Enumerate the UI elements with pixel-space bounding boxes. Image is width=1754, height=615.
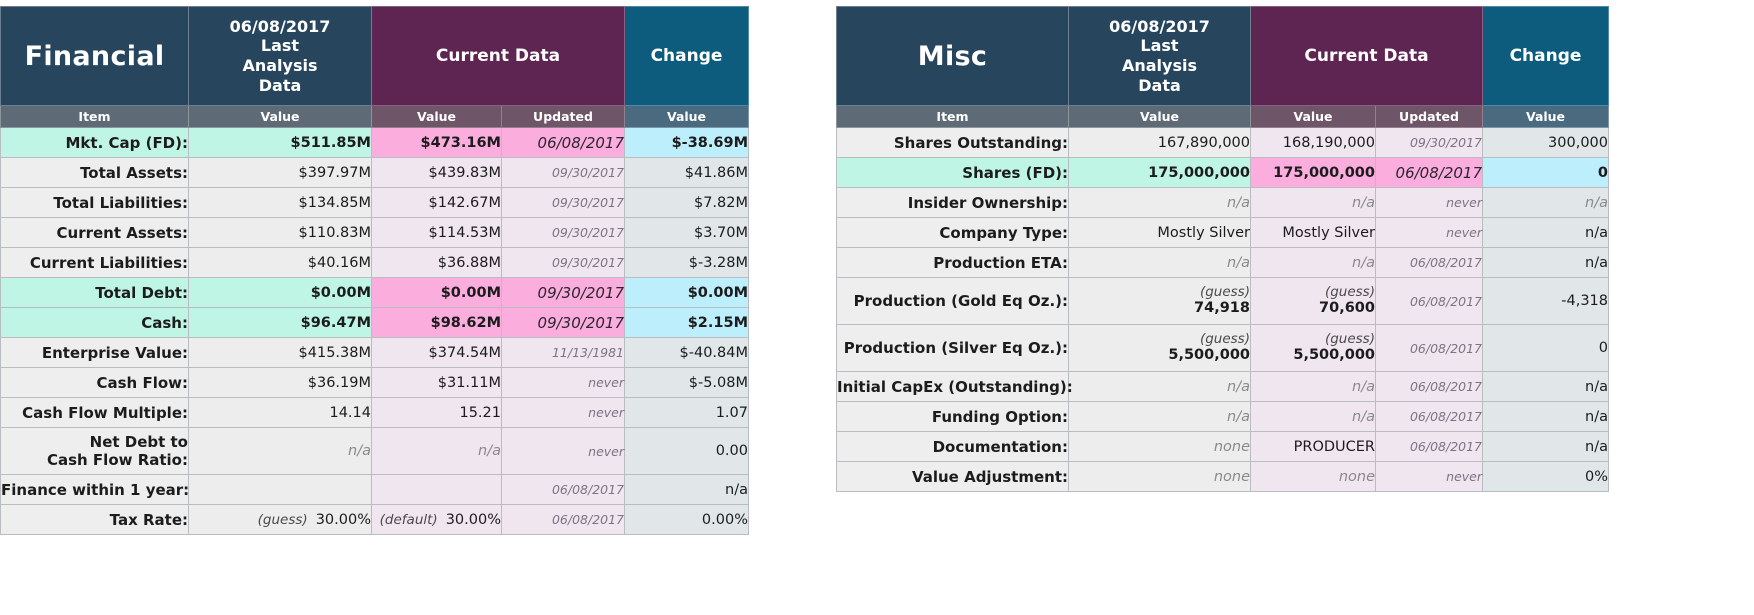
last-analysis-line-1: 06/08/2017 (1069, 17, 1250, 37)
value-text: $96.47M (301, 315, 371, 331)
misc-last-analysis-header: 06/08/2017 Last Analysis Data (1069, 7, 1251, 106)
misc-current-value: (guess)5,500,000 (1251, 325, 1376, 372)
financial-row-label: Current Liabilities: (1, 248, 189, 278)
financial-updated: never (502, 428, 625, 475)
financial-last-analysis-value: n/a (189, 428, 372, 475)
value-number: 70,600 (1251, 300, 1375, 318)
financial-row-label: Finance within 1 year: (1, 475, 189, 505)
financial-current-value: $36.88M (372, 248, 502, 278)
misc-subheader-current-value: Value (1251, 106, 1376, 128)
misc-thead: Misc 06/08/2017 Last Analysis Data Curre… (837, 7, 1609, 128)
value-text: $142.67M (429, 195, 501, 211)
misc-subheader-change: Value (1483, 106, 1609, 128)
misc-subheader-value: Value (1069, 106, 1251, 128)
financial-current-data-header: Current Data (372, 7, 625, 106)
value-text: Mostly Silver (1282, 225, 1375, 241)
misc-current-data-header: Current Data (1251, 7, 1483, 106)
financial-row-label: Mkt. Cap (FD): (1, 128, 189, 158)
misc-row-label: Funding Option: (837, 402, 1069, 432)
financial-title: Financial (1, 7, 189, 106)
value-text: n/a (1227, 379, 1250, 395)
financial-title-row: Financial 06/08/2017 Last Analysis Data … (1, 7, 749, 106)
value-text: n/a (348, 443, 371, 459)
financial-table: Financial 06/08/2017 Last Analysis Data … (0, 6, 749, 535)
value-text: $98.62M (431, 315, 501, 331)
value-text: $110.83M (299, 225, 371, 241)
value-text: n/a (1585, 195, 1608, 211)
financial-current-value: $0.00M (372, 278, 502, 308)
table-row: Finance within 1 year:06/08/2017n/a (1, 475, 749, 505)
value-text: Mostly Silver (1157, 225, 1250, 241)
misc-subheader-item: Item (837, 106, 1069, 128)
misc-last-analysis-value: 175,000,000 (1069, 158, 1251, 188)
value-qualifier: (guess) (1251, 284, 1375, 300)
financial-last-analysis-value: $415.38M (189, 338, 372, 368)
table-row: Production (Silver Eq Oz.):(guess)5,500,… (837, 325, 1609, 372)
financial-row-label: Net Debt toCash Flow Ratio: (1, 428, 189, 475)
report-page: Financial 06/08/2017 Last Analysis Data … (0, 0, 1754, 615)
misc-last-analysis-value: n/a (1069, 402, 1251, 432)
table-row: Company Type:Mostly SilverMostly Silvern… (837, 218, 1609, 248)
value-text: $36.88M (438, 255, 501, 271)
financial-current-value: (default)30.00% (372, 505, 502, 535)
value-text: 300,000 (1548, 135, 1608, 151)
value-number: 74,918 (1069, 300, 1250, 318)
financial-change-value: $7.82M (625, 188, 749, 218)
last-analysis-line-4: Data (189, 76, 371, 96)
value-text: $0.00M (441, 285, 501, 301)
misc-row-label: Shares Outstanding: (837, 128, 1069, 158)
value-text: $0.00M (311, 285, 371, 301)
financial-change-value: $-38.69M (625, 128, 749, 158)
financial-tbody: Mkt. Cap (FD):$511.85M$473.16M06/08/2017… (1, 128, 749, 535)
misc-change-value: n/a (1483, 218, 1609, 248)
misc-change-value: 0 (1483, 158, 1609, 188)
financial-current-value: n/a (372, 428, 502, 475)
value-text: n/a (1352, 379, 1375, 395)
misc-current-value: n/a (1251, 402, 1376, 432)
last-analysis-line-4: Data (1069, 76, 1250, 96)
value-text: 15.21 (459, 405, 501, 421)
value-text: $2.15M (688, 315, 748, 331)
misc-last-analysis-value: none (1069, 432, 1251, 462)
financial-change-value: 0.00 (625, 428, 749, 475)
misc-title-row: Misc 06/08/2017 Last Analysis Data Curre… (837, 7, 1609, 106)
table-row: Documentation:nonePRODUCER06/08/2017n/a (837, 432, 1609, 462)
misc-current-value: n/a (1251, 188, 1376, 218)
value-text: 175,000,000 (1148, 165, 1250, 181)
financial-updated: 09/30/2017 (502, 248, 625, 278)
table-row: Net Debt toCash Flow Ratio:n/an/anever0.… (1, 428, 749, 475)
last-analysis-line-3: Analysis (189, 56, 371, 76)
table-row: Current Liabilities:$40.16M$36.88M09/30/… (1, 248, 749, 278)
table-row: Insider Ownership:n/an/anevern/a (837, 188, 1609, 218)
value-text: n/a (1585, 255, 1608, 271)
misc-change-value: 300,000 (1483, 128, 1609, 158)
financial-row-label: Cash: (1, 308, 189, 338)
misc-current-value: 168,190,000 (1251, 128, 1376, 158)
financial-last-analysis-value: $36.19M (189, 368, 372, 398)
misc-change-value: -4,318 (1483, 278, 1609, 325)
table-row: Cash Flow Multiple:14.1415.21never1.07 (1, 398, 749, 428)
misc-change-value: 0% (1483, 462, 1609, 492)
value-text: none (1339, 469, 1375, 485)
value-text: $-3.28M (689, 255, 748, 271)
misc-last-analysis-value: (guess)74,918 (1069, 278, 1251, 325)
value-text: 167,890,000 (1158, 135, 1250, 151)
misc-updated: 06/08/2017 (1376, 325, 1483, 372)
value-text: n/a (1585, 439, 1608, 455)
financial-last-analysis-value: $397.97M (189, 158, 372, 188)
financial-change-value: $2.15M (625, 308, 749, 338)
value-qualifier: (default) (380, 512, 438, 528)
misc-row-label: Insider Ownership: (837, 188, 1069, 218)
financial-updated: 11/13/1981 (502, 338, 625, 368)
misc-current-value: none (1251, 462, 1376, 492)
financial-change-value: 1.07 (625, 398, 749, 428)
last-analysis-line-1: 06/08/2017 (189, 17, 371, 37)
value-text: n/a (1585, 225, 1608, 241)
misc-updated: 06/08/2017 (1376, 278, 1483, 325)
financial-last-analysis-value: (guess)30.00% (189, 505, 372, 535)
table-row: Production ETA:n/an/a06/08/2017n/a (837, 248, 1609, 278)
misc-row-label: Shares (FD): (837, 158, 1069, 188)
financial-current-value: 15.21 (372, 398, 502, 428)
financial-updated: 09/30/2017 (502, 188, 625, 218)
financial-updated: 09/30/2017 (502, 308, 625, 338)
financial-last-analysis-value: $96.47M (189, 308, 372, 338)
value-text: n/a (1227, 255, 1250, 271)
value-text: n/a (1227, 409, 1250, 425)
financial-updated: 09/30/2017 (502, 158, 625, 188)
financial-change-value: n/a (625, 475, 749, 505)
table-row: Mkt. Cap (FD):$511.85M$473.16M06/08/2017… (1, 128, 749, 158)
misc-last-analysis-value: n/a (1069, 188, 1251, 218)
financial-change-value: $-40.84M (625, 338, 749, 368)
value-text: $415.38M (299, 345, 371, 361)
value-number: 5,500,000 (1069, 347, 1250, 365)
table-row: Shares (FD):175,000,000175,000,00006/08/… (837, 158, 1609, 188)
value-text: n/a (1227, 195, 1250, 211)
table-row: Production (Gold Eq Oz.):(guess)74,918(g… (837, 278, 1609, 325)
financial-updated: 06/08/2017 (502, 475, 625, 505)
financial-last-analysis-value: $511.85M (189, 128, 372, 158)
misc-current-value: 175,000,000 (1251, 158, 1376, 188)
financial-subheader-current-value: Value (372, 106, 502, 128)
value-text: PRODUCER (1294, 439, 1375, 455)
financial-subheader-change: Value (625, 106, 749, 128)
misc-row-label: Initial CapEx (Outstanding): (837, 372, 1069, 402)
value-text: 0 (1598, 165, 1608, 181)
financial-updated: 06/08/2017 (502, 128, 625, 158)
value-qualifier: (guess) (1251, 331, 1375, 347)
financial-change-value: $-3.28M (625, 248, 749, 278)
misc-last-analysis-value: (guess)5,500,000 (1069, 325, 1251, 372)
table-row: Cash:$96.47M$98.62M09/30/2017$2.15M (1, 308, 749, 338)
financial-change-value: $-5.08M (625, 368, 749, 398)
value-text: $40.16M (308, 255, 371, 271)
misc-current-value: n/a (1251, 248, 1376, 278)
misc-title: Misc (837, 7, 1069, 106)
financial-subheader-updated: Updated (502, 106, 625, 128)
value-text: n/a (1585, 379, 1608, 395)
financial-thead: Financial 06/08/2017 Last Analysis Data … (1, 7, 749, 128)
misc-change-header: Change (1483, 7, 1609, 106)
financial-current-value: $142.67M (372, 188, 502, 218)
value-text: $439.83M (429, 165, 501, 181)
value-text: 30.00% (316, 512, 371, 528)
value-qualifier: (guess) (1069, 284, 1250, 300)
table-row: Shares Outstanding:167,890,000168,190,00… (837, 128, 1609, 158)
misc-change-value: 0 (1483, 325, 1609, 372)
financial-change-value: 0.00% (625, 505, 749, 535)
value-text: 175,000,000 (1273, 165, 1375, 181)
misc-change-value: n/a (1483, 402, 1609, 432)
financial-change-value: $41.86M (625, 158, 749, 188)
value-text: $374.54M (429, 345, 501, 361)
financial-last-analysis-header: 06/08/2017 Last Analysis Data (189, 7, 372, 106)
misc-subheader-updated: Updated (1376, 106, 1483, 128)
financial-updated: never (502, 398, 625, 428)
value-text: $41.86M (685, 165, 748, 181)
row-label-line: Cash Flow Ratio: (1, 451, 188, 469)
misc-change-value: n/a (1483, 188, 1609, 218)
last-analysis-line-2: Last (1069, 36, 1250, 56)
misc-last-analysis-value: none (1069, 462, 1251, 492)
value-text: 168,190,000 (1283, 135, 1375, 151)
value-text: n/a (1352, 195, 1375, 211)
value-text: 0% (1585, 469, 1608, 485)
table-row: Value Adjustment:nonenonenever0% (837, 462, 1609, 492)
misc-updated: 06/08/2017 (1376, 248, 1483, 278)
financial-current-value: $98.62M (372, 308, 502, 338)
misc-last-analysis-value: n/a (1069, 372, 1251, 402)
value-text: 0.00 (716, 443, 748, 459)
value-text: $-40.84M (680, 345, 748, 361)
misc-updated: never (1376, 188, 1483, 218)
misc-panel: Misc 06/08/2017 Last Analysis Data Curre… (836, 6, 1608, 492)
financial-updated: never (502, 368, 625, 398)
misc-updated: never (1376, 218, 1483, 248)
financial-current-value (372, 475, 502, 505)
value-text: $-38.69M (672, 135, 748, 151)
value-text: n/a (725, 482, 748, 498)
financial-last-analysis-value: $134.85M (189, 188, 372, 218)
financial-row-label: Cash Flow Multiple: (1, 398, 189, 428)
financial-last-analysis-value: 14.14 (189, 398, 372, 428)
misc-change-value: n/a (1483, 372, 1609, 402)
financial-current-value: $374.54M (372, 338, 502, 368)
financial-row-label: Current Assets: (1, 218, 189, 248)
table-row: Total Liabilities:$134.85M$142.67M09/30/… (1, 188, 749, 218)
value-text: $3.70M (694, 225, 748, 241)
financial-row-label: Total Assets: (1, 158, 189, 188)
misc-updated: never (1376, 462, 1483, 492)
value-number: 5,500,000 (1251, 347, 1375, 365)
misc-last-analysis-value: 167,890,000 (1069, 128, 1251, 158)
misc-row-label: Production ETA: (837, 248, 1069, 278)
misc-updated: 06/08/2017 (1376, 432, 1483, 462)
last-analysis-line-2: Last (189, 36, 371, 56)
table-row: Funding Option:n/an/a06/08/2017n/a (837, 402, 1609, 432)
value-text: $0.00M (688, 285, 748, 301)
financial-row-label: Enterprise Value: (1, 338, 189, 368)
value-text: $-5.08M (689, 375, 748, 391)
value-text: $134.85M (299, 195, 371, 211)
misc-last-analysis-value: n/a (1069, 248, 1251, 278)
financial-last-analysis-value: $0.00M (189, 278, 372, 308)
value-text: $511.85M (291, 135, 371, 151)
financial-current-value: $31.11M (372, 368, 502, 398)
financial-row-label: Total Debt: (1, 278, 189, 308)
value-text: n/a (478, 443, 501, 459)
misc-current-value: n/a (1251, 372, 1376, 402)
financial-current-value: $114.53M (372, 218, 502, 248)
misc-updated: 06/08/2017 (1376, 402, 1483, 432)
financial-updated: 09/30/2017 (502, 218, 625, 248)
misc-updated: 09/30/2017 (1376, 128, 1483, 158)
value-text: n/a (1585, 409, 1608, 425)
misc-current-value: (guess)70,600 (1251, 278, 1376, 325)
misc-subheader-row: Item Value Value Updated Value (837, 106, 1609, 128)
value-qualifier: (guess) (258, 512, 308, 528)
misc-table: Misc 06/08/2017 Last Analysis Data Curre… (836, 6, 1609, 492)
financial-subheader-row: Item Value Value Updated Value (1, 106, 749, 128)
value-text: $31.11M (438, 375, 501, 391)
table-row: Initial CapEx (Outstanding):n/an/a06/08/… (837, 372, 1609, 402)
value-text: n/a (1352, 255, 1375, 271)
value-text: $397.97M (299, 165, 371, 181)
misc-row-label: Company Type: (837, 218, 1069, 248)
misc-tbody: Shares Outstanding:167,890,000168,190,00… (837, 128, 1609, 492)
financial-last-analysis-value (189, 475, 372, 505)
value-text: 30.00% (446, 512, 501, 528)
financial-last-analysis-value: $110.83M (189, 218, 372, 248)
value-text: 14.14 (329, 405, 371, 421)
financial-current-value: $439.83M (372, 158, 502, 188)
financial-updated: 09/30/2017 (502, 278, 625, 308)
value-text: 0.00% (702, 512, 748, 528)
misc-change-value: n/a (1483, 248, 1609, 278)
financial-last-analysis-value: $40.16M (189, 248, 372, 278)
last-analysis-line-3: Analysis (1069, 56, 1250, 76)
misc-row-label: Value Adjustment: (837, 462, 1069, 492)
financial-change-value: $0.00M (625, 278, 749, 308)
value-text: none (1214, 439, 1250, 455)
value-text: 1.07 (716, 405, 748, 421)
financial-row-label: Tax Rate: (1, 505, 189, 535)
financial-panel: Financial 06/08/2017 Last Analysis Data … (0, 6, 748, 535)
table-row: Total Debt:$0.00M$0.00M09/30/2017$0.00M (1, 278, 749, 308)
misc-row-label: Documentation: (837, 432, 1069, 462)
financial-row-label: Total Liabilities: (1, 188, 189, 218)
value-text: -4,318 (1561, 293, 1608, 309)
table-row: Cash Flow:$36.19M$31.11Mnever$-5.08M (1, 368, 749, 398)
value-text: $7.82M (694, 195, 748, 211)
misc-change-value: n/a (1483, 432, 1609, 462)
misc-updated: 06/08/2017 (1376, 372, 1483, 402)
misc-current-value: PRODUCER (1251, 432, 1376, 462)
misc-last-analysis-value: Mostly Silver (1069, 218, 1251, 248)
financial-row-label: Cash Flow: (1, 368, 189, 398)
misc-row-label: Production (Silver Eq Oz.): (837, 325, 1069, 372)
table-row: Tax Rate:(guess)30.00%(default)30.00%06/… (1, 505, 749, 535)
financial-subheader-item: Item (1, 106, 189, 128)
misc-current-value: Mostly Silver (1251, 218, 1376, 248)
financial-subheader-value: Value (189, 106, 372, 128)
financial-updated: 06/08/2017 (502, 505, 625, 535)
value-text: $473.16M (421, 135, 501, 151)
value-text: none (1214, 469, 1250, 485)
value-text: $36.19M (308, 375, 371, 391)
value-text: 0 (1599, 340, 1608, 356)
financial-change-value: $3.70M (625, 218, 749, 248)
row-label-line: Net Debt to (1, 433, 188, 451)
value-qualifier: (guess) (1069, 331, 1250, 347)
financial-change-header: Change (625, 7, 749, 106)
misc-updated: 06/08/2017 (1376, 158, 1483, 188)
table-row: Enterprise Value:$415.38M$374.54M11/13/1… (1, 338, 749, 368)
value-text: $114.53M (429, 225, 501, 241)
financial-current-value: $473.16M (372, 128, 502, 158)
value-text: n/a (1352, 409, 1375, 425)
misc-row-label: Production (Gold Eq Oz.): (837, 278, 1069, 325)
table-row: Total Assets:$397.97M$439.83M09/30/2017$… (1, 158, 749, 188)
table-row: Current Assets:$110.83M$114.53M09/30/201… (1, 218, 749, 248)
